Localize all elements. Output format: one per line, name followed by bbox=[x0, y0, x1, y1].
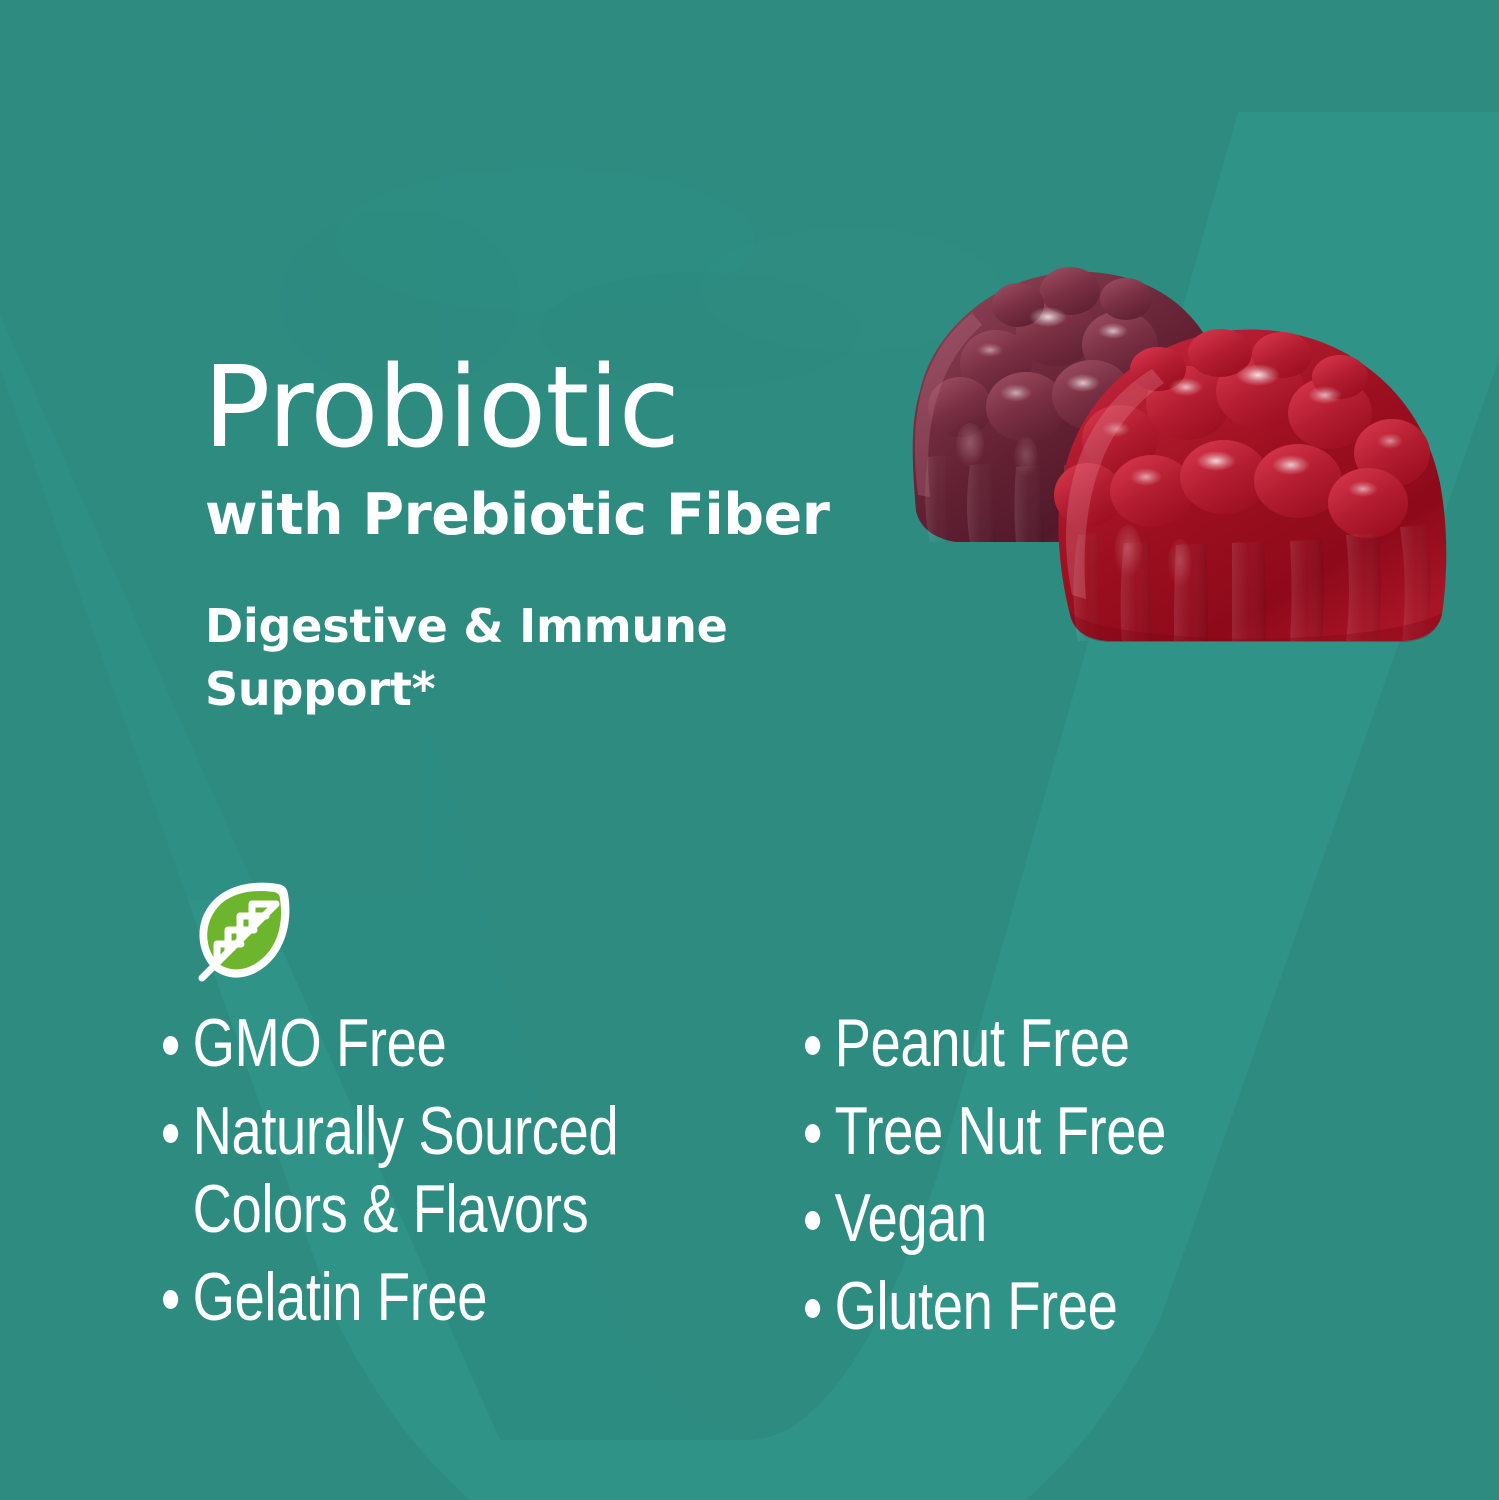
claim-label: Naturally Sourced Colors & Flavors bbox=[193, 1092, 659, 1249]
bullet-dot-icon bbox=[163, 1036, 178, 1055]
list-item: Tree Nut Free bbox=[805, 1092, 1221, 1171]
bullet-dot-icon bbox=[163, 1290, 178, 1309]
claim-label: Gelatin Free bbox=[193, 1258, 659, 1337]
product-subtitle: with Prebiotic Fiber bbox=[205, 487, 829, 544]
list-item: Gelatin Free bbox=[163, 1258, 659, 1337]
list-item: Gluten Free bbox=[805, 1267, 1221, 1346]
leaf-icon bbox=[192, 874, 296, 986]
product-marketing-image: Probiotic with Prebiotic Fiber Digestive… bbox=[0, 0, 1499, 1500]
claim-label: Gluten Free bbox=[835, 1267, 1221, 1346]
claims-column-left: GMO Free Naturally Sourced Colors & Flav… bbox=[163, 1004, 783, 1345]
claim-label: Peanut Free bbox=[835, 1004, 1221, 1083]
bullet-dot-icon bbox=[163, 1124, 178, 1143]
bullet-dot-icon bbox=[805, 1211, 820, 1230]
claim-label: GMO Free bbox=[193, 1004, 659, 1083]
list-item: GMO Free bbox=[163, 1004, 659, 1083]
page-title: Probiotic bbox=[203, 352, 679, 464]
claim-label: Tree Nut Free bbox=[835, 1092, 1221, 1171]
bullet-dot-icon bbox=[805, 1299, 820, 1318]
bullet-dot-icon bbox=[805, 1124, 820, 1143]
claim-label: Vegan bbox=[835, 1179, 1221, 1258]
list-item: Naturally Sourced Colors & Flavors bbox=[163, 1092, 659, 1249]
product-tagline: Digestive & Immune Support* bbox=[205, 595, 765, 722]
list-item: Vegan bbox=[805, 1179, 1221, 1258]
bullet-dot-icon bbox=[805, 1036, 820, 1055]
claims-column-right: Peanut Free Tree Nut Free Vegan Gluten F… bbox=[805, 1004, 1325, 1354]
list-item: Peanut Free bbox=[805, 1004, 1221, 1083]
